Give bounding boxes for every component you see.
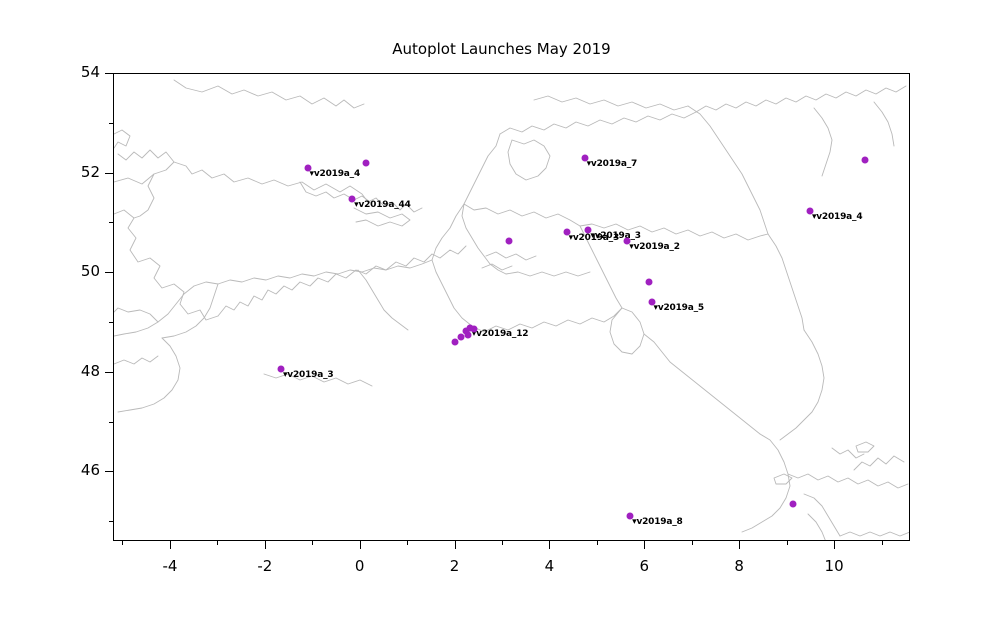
data-point-label: ▾v2019a_3 bbox=[283, 370, 333, 380]
y-tick-label: 46 bbox=[40, 461, 100, 479]
data-point[interactable] bbox=[464, 331, 471, 338]
data-point[interactable] bbox=[505, 237, 512, 244]
x-tick-minor bbox=[787, 541, 788, 545]
x-tick-label: -4 bbox=[140, 557, 200, 575]
x-tick-label: 10 bbox=[804, 557, 864, 575]
x-tick-label: 4 bbox=[519, 557, 579, 575]
y-tick-major bbox=[105, 471, 113, 472]
x-tick-minor bbox=[312, 541, 313, 545]
y-tick-label: 48 bbox=[40, 362, 100, 380]
data-point-label: ▾v2019a_2 bbox=[629, 242, 679, 252]
data-point-label: ▾v2019a_4 bbox=[310, 169, 360, 179]
x-tick-major bbox=[265, 541, 266, 549]
y-tick-label: 52 bbox=[40, 163, 100, 181]
y-tick-major bbox=[105, 173, 113, 174]
data-point-label: ▾v2019a_3 bbox=[590, 231, 640, 241]
x-tick-minor bbox=[122, 541, 123, 545]
data-point-label: ▾v2019a_44 bbox=[354, 200, 411, 210]
y-tick-major bbox=[105, 272, 113, 273]
data-point-label: ▾v2019a_12 bbox=[472, 329, 529, 339]
data-point[interactable] bbox=[861, 157, 868, 164]
x-tick-label: 0 bbox=[330, 557, 390, 575]
y-tick-label: 54 bbox=[40, 63, 100, 81]
x-tick-major bbox=[170, 541, 171, 549]
y-tick-major bbox=[105, 372, 113, 373]
data-point-label: ▾v2019a_7 bbox=[587, 159, 637, 169]
y-tick-minor bbox=[109, 123, 113, 124]
x-tick-major bbox=[644, 541, 645, 549]
map-coastlines bbox=[114, 74, 910, 541]
x-tick-label: 2 bbox=[425, 557, 485, 575]
data-point[interactable] bbox=[646, 279, 653, 286]
data-point[interactable] bbox=[451, 338, 458, 345]
y-tick-minor bbox=[109, 322, 113, 323]
y-tick-minor bbox=[109, 521, 113, 522]
x-tick-minor bbox=[882, 541, 883, 545]
data-point-label: ▾v2019a_5 bbox=[654, 303, 704, 313]
x-tick-minor bbox=[217, 541, 218, 545]
figure-canvas: Autoplot Launches May 2019 bbox=[0, 0, 1003, 633]
data-point[interactable] bbox=[363, 159, 370, 166]
y-tick-major bbox=[105, 73, 113, 74]
page-title: Autoplot Launches May 2019 bbox=[0, 40, 1003, 58]
x-tick-minor bbox=[502, 541, 503, 545]
x-tick-major bbox=[739, 541, 740, 549]
y-tick-label: 50 bbox=[40, 262, 100, 280]
x-tick-label: -2 bbox=[235, 557, 295, 575]
y-tick-minor bbox=[109, 222, 113, 223]
x-tick-label: 8 bbox=[709, 557, 769, 575]
x-tick-major bbox=[360, 541, 361, 549]
x-tick-label: 6 bbox=[614, 557, 674, 575]
x-tick-minor bbox=[692, 541, 693, 545]
y-tick-minor bbox=[109, 422, 113, 423]
x-tick-major bbox=[455, 541, 456, 549]
plot-area[interactable]: ▾v2019a_4▾v2019a_44▾v2019a_7▾v2019a_4▾v2… bbox=[113, 73, 910, 541]
data-point[interactable] bbox=[470, 325, 477, 332]
data-point-label: ▾v2019a_8 bbox=[632, 517, 682, 527]
data-point-label: ▾v2019a_4 bbox=[812, 212, 862, 222]
data-point[interactable] bbox=[790, 500, 797, 507]
x-tick-minor bbox=[407, 541, 408, 545]
x-tick-major bbox=[834, 541, 835, 549]
x-tick-minor bbox=[597, 541, 598, 545]
x-tick-major bbox=[549, 541, 550, 549]
